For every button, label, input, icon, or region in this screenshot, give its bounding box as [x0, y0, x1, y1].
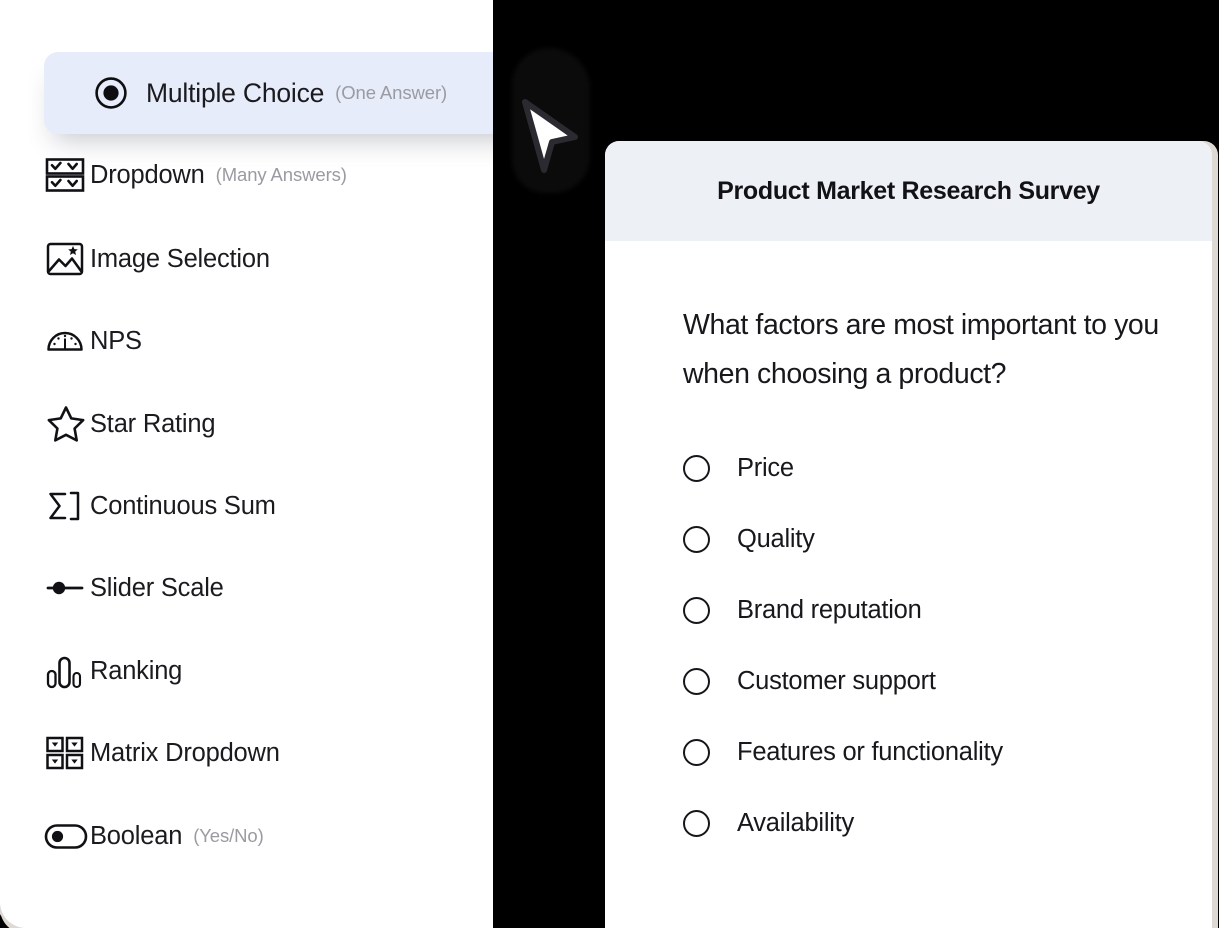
option-label: Brand reputation — [737, 596, 922, 625]
question-type-label: Star Rating — [90, 410, 215, 439]
matrix-dropdown-icon — [44, 733, 90, 773]
dropdown-list-icon — [44, 155, 90, 195]
cursor-glow — [512, 48, 590, 193]
survey-option-brand-reputation[interactable]: Brand reputation — [683, 575, 1212, 646]
question-type-item-continuous-sum[interactable]: Continuous Sum — [44, 475, 276, 537]
radio-button[interactable] — [683, 597, 710, 624]
question-type-label: Image Selection — [90, 245, 270, 274]
question-type-list: Multiple Choice (One Answer) Dropdown (M… — [0, 0, 493, 928]
question-type-item-slider-scale[interactable]: Slider Scale — [44, 557, 224, 619]
question-type-label: Continuous Sum — [90, 492, 276, 521]
survey-option-availability[interactable]: Availability — [683, 788, 1212, 859]
radio-button[interactable] — [683, 810, 710, 837]
question-type-label: Boolean — [90, 822, 182, 851]
option-label: Customer support — [737, 667, 936, 696]
survey-option-customer-support[interactable]: Customer support — [683, 646, 1212, 717]
radio-filled-icon — [94, 73, 146, 113]
toggle-icon — [44, 816, 90, 856]
question-type-item-nps[interactable]: NPS — [44, 310, 142, 372]
question-type-item-dropdown[interactable]: Dropdown (Many Answers) — [44, 144, 347, 206]
survey-preview-card: Product Market Research Survey What fact… — [605, 141, 1212, 928]
radio-button[interactable] — [683, 455, 710, 482]
sigma-bracket-icon — [44, 486, 90, 526]
survey-title: Product Market Research Survey — [717, 177, 1100, 206]
question-type-label: NPS — [90, 327, 142, 356]
question-type-note: (Many Answers) — [216, 164, 347, 186]
question-type-item-matrix-dropdown[interactable]: Matrix Dropdown — [44, 722, 280, 784]
option-label: Features or functionality — [737, 738, 1003, 767]
question-type-label: Dropdown — [90, 161, 205, 190]
question-type-item-multiple-choice[interactable]: Multiple Choice (One Answer) — [44, 52, 493, 134]
mouse-pointer-icon — [519, 98, 581, 176]
question-type-item-image-selection[interactable]: Image Selection — [44, 228, 270, 290]
radio-button[interactable] — [683, 668, 710, 695]
question-type-note: (Yes/No) — [193, 825, 264, 847]
image-star-icon — [44, 239, 90, 279]
option-label: Price — [737, 454, 794, 483]
survey-option-features-or-functionality[interactable]: Features or functionality — [683, 717, 1212, 788]
question-type-label: Multiple Choice — [146, 78, 324, 109]
question-type-label: Slider Scale — [90, 574, 224, 603]
survey-body: What factors are most important to you w… — [605, 241, 1212, 859]
slider-icon — [44, 568, 90, 608]
radio-button[interactable] — [683, 739, 710, 766]
question-type-panel: Multiple Choice (One Answer) Dropdown (M… — [0, 0, 493, 928]
question-type-item-ranking[interactable]: Ranking — [44, 640, 182, 702]
question-type-item-boolean[interactable]: Boolean (Yes/No) — [44, 805, 264, 867]
question-type-label: Ranking — [90, 657, 182, 686]
question-type-item-star-rating[interactable]: Star Rating — [44, 393, 215, 455]
survey-option-price[interactable]: Price — [683, 433, 1212, 504]
survey-header: Product Market Research Survey — [605, 141, 1212, 241]
gauge-icon — [44, 321, 90, 361]
question-type-label: Matrix Dropdown — [90, 739, 280, 768]
survey-question-text: What factors are most important to you w… — [683, 301, 1163, 399]
question-type-note: (One Answer) — [335, 82, 447, 104]
radio-button[interactable] — [683, 526, 710, 553]
survey-option-quality[interactable]: Quality — [683, 504, 1212, 575]
option-label: Quality — [737, 525, 815, 554]
ranking-bars-icon — [44, 651, 90, 691]
option-label: Availability — [737, 809, 854, 838]
star-outline-icon — [44, 404, 90, 444]
